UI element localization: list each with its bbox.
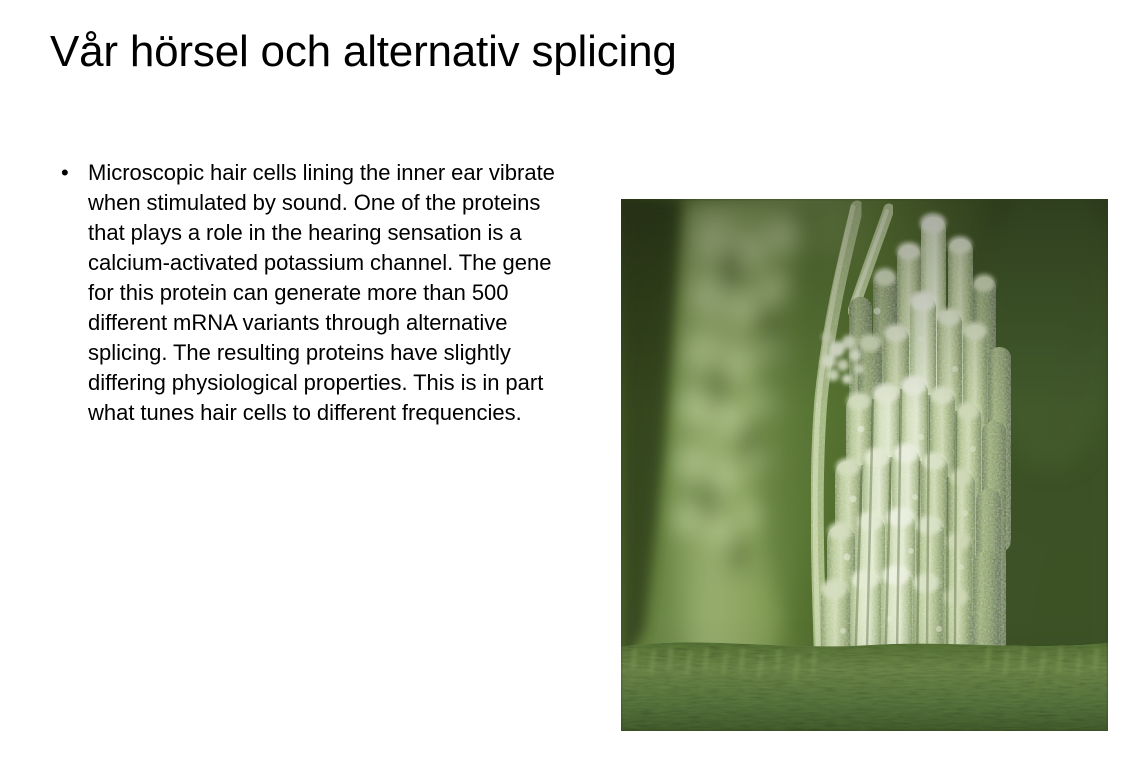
bullet-item-label: Microscopic hair cells lining the inner … (88, 160, 555, 425)
body-text-block: • Microscopic hair cells lining the inne… (55, 158, 555, 428)
bullet-icon: • (61, 158, 69, 188)
slide: Vår hörsel och alternativ splicing • Mic… (0, 0, 1126, 766)
micrograph-illustration (621, 199, 1108, 731)
page-title: Vår hörsel och alternativ splicing (50, 24, 1050, 80)
stereocilia-micrograph (621, 199, 1108, 731)
list-item: • Microscopic hair cells lining the inne… (55, 158, 555, 428)
